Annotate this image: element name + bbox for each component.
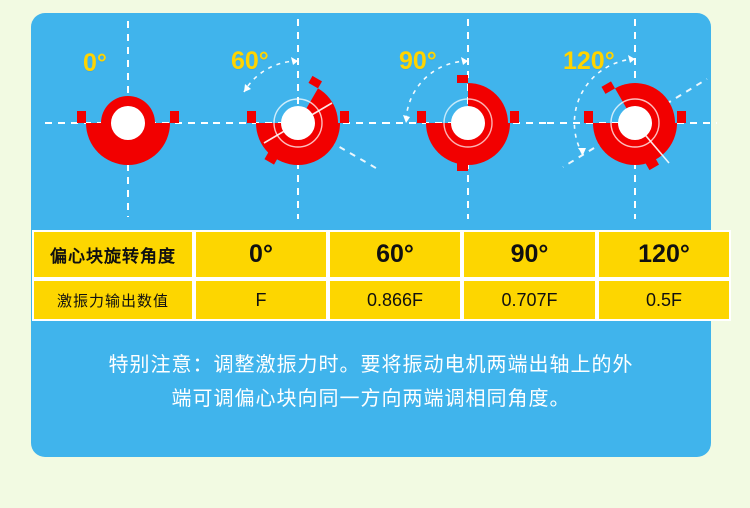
angle-label-120deg: 120° [563, 49, 615, 74]
angle-cell-3: 120° [597, 230, 731, 279]
table-row-forces: 激振力输出数值 F 0.866F 0.707F 0.5F [32, 279, 731, 321]
figure-0deg [43, 13, 213, 225]
angle-label-90deg: 90° [399, 49, 437, 74]
note-block: 特别注意：调整激振力时。要将振动电机两端出轴上的外 端可调偏心块向同一方向两端调… [61, 348, 681, 416]
eccentric-weight-diagram-strip: 0° [31, 13, 711, 225]
shaft-hole-60deg [281, 106, 315, 140]
shaft-hole-90deg [451, 106, 485, 140]
figure-90deg [383, 13, 553, 225]
note-line-1: 特别注意：调整激振力时。要将振动电机两端出轴上的外 [109, 354, 634, 376]
force-cell-2: 0.707F [462, 279, 597, 321]
row-header-force: 激振力输出数值 [32, 279, 194, 321]
angle-cell-2: 90° [462, 230, 597, 279]
row-header-angle: 偏心块旋转角度 [32, 230, 194, 279]
figure-60deg [213, 13, 383, 225]
angle-cell-0: 0° [194, 230, 328, 279]
excitation-force-table: 偏心块旋转角度 0° 60° 90° 120° 激振力输出数值 F 0.866F… [32, 230, 731, 321]
blue-panel: 0° [31, 13, 711, 457]
note-line-2: 端可调偏心块向同一方向两端调相同角度。 [61, 382, 681, 416]
angle-label-60deg: 60° [231, 49, 269, 74]
infographic-root: 0° [0, 0, 750, 508]
shaft-hole-120deg [618, 106, 652, 140]
force-cell-0: F [194, 279, 328, 321]
shaft-hole-0deg [111, 106, 145, 140]
angle-cell-1: 60° [328, 230, 462, 279]
table-row-angles: 偏心块旋转角度 0° 60° 90° 120° [32, 230, 731, 279]
force-cell-1: 0.866F [328, 279, 462, 321]
figure-120deg [547, 13, 717, 225]
force-cell-3: 0.5F [597, 279, 731, 321]
angle-label-0deg: 0° [83, 51, 107, 76]
